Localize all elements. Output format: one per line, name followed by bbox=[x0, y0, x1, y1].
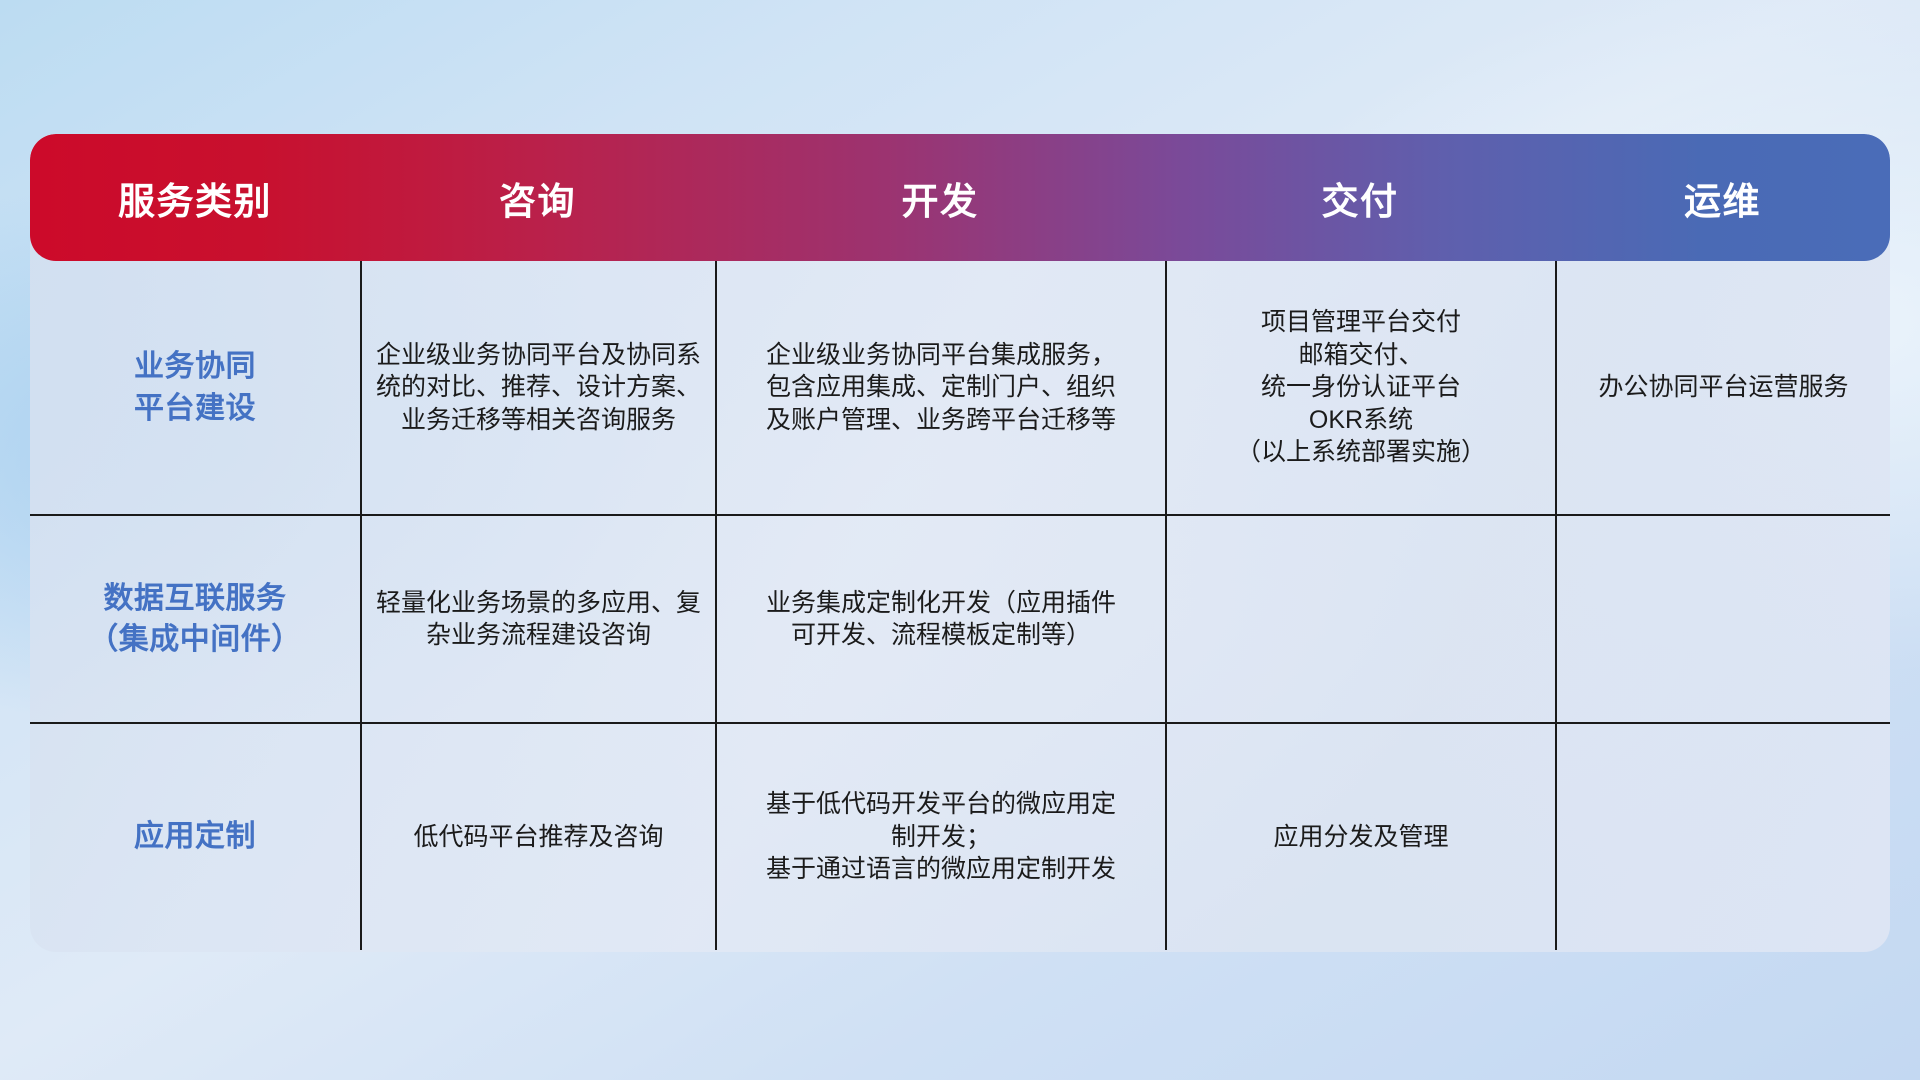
cell-row3-operations bbox=[1555, 724, 1890, 950]
cell-row3-development: 基于低代码开发平台的微应用定 制开发； 基于通过语言的微应用定制开发 bbox=[715, 724, 1165, 950]
cell-row1-development: 企业级业务协同平台集成服务， 包含应用集成、定制门户、组织 及账户管理、业务跨平… bbox=[715, 261, 1165, 514]
cell-row2-consulting: 轻量化业务场景的多应用、复 杂业务流程建设咨询 bbox=[360, 516, 715, 722]
cell-row3-delivery: 应用分发及管理 bbox=[1165, 724, 1555, 950]
column-header-operations: 运维 bbox=[1555, 171, 1890, 225]
cell-row2-development: 业务集成定制化开发（应用插件 可开发、流程模板定制等） bbox=[715, 516, 1165, 722]
table-row: 数据互联服务 （集成中间件） 轻量化业务场景的多应用、复 杂业务流程建设咨询 业… bbox=[30, 514, 1890, 722]
slide-canvas: 服务类别 咨询 开发 交付 运维 业务协同 平台建设 企业级业务协同平台及协同系… bbox=[0, 0, 1920, 1080]
column-header-service-category: 服务类别 bbox=[30, 171, 360, 225]
row-label-business-collaboration-platform: 业务协同 平台建设 bbox=[30, 261, 360, 514]
table-body: 业务协同 平台建设 企业级业务协同平台及协同系 统的对比、推荐、设计方案、 业务… bbox=[30, 261, 1890, 952]
row-label-data-interconnect-service: 数据互联服务 （集成中间件） bbox=[30, 516, 360, 722]
row-label-application-customization: 应用定制 bbox=[30, 724, 360, 950]
cell-row1-consulting: 企业级业务协同平台及协同系 统的对比、推荐、设计方案、 业务迁移等相关咨询服务 bbox=[360, 261, 715, 514]
column-header-consulting: 咨询 bbox=[360, 171, 715, 225]
table-row: 业务协同 平台建设 企业级业务协同平台及协同系 统的对比、推荐、设计方案、 业务… bbox=[30, 261, 1890, 514]
cell-row2-delivery bbox=[1165, 516, 1555, 722]
column-header-development: 开发 bbox=[715, 171, 1165, 225]
service-matrix-table: 服务类别 咨询 开发 交付 运维 业务协同 平台建设 企业级业务协同平台及协同系… bbox=[30, 134, 1890, 952]
table-header-row: 服务类别 咨询 开发 交付 运维 bbox=[30, 134, 1890, 261]
cell-row3-consulting: 低代码平台推荐及咨询 bbox=[360, 724, 715, 950]
cell-row1-delivery: 项目管理平台交付 邮箱交付、 统一身份认证平台 OKR系统 （以上系统部署实施） bbox=[1165, 261, 1555, 514]
cell-row1-operations: 办公协同平台运营服务 bbox=[1555, 261, 1890, 514]
column-header-delivery: 交付 bbox=[1165, 171, 1555, 225]
cell-row2-operations bbox=[1555, 516, 1890, 722]
table-row: 应用定制 低代码平台推荐及咨询 基于低代码开发平台的微应用定 制开发； 基于通过… bbox=[30, 722, 1890, 950]
